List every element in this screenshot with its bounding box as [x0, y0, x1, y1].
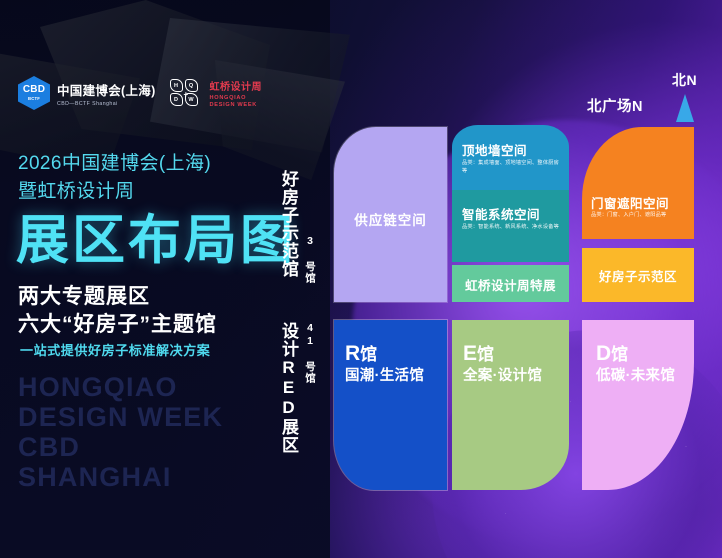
- map-hall-d-name: D馆: [596, 340, 628, 366]
- hq-plus-glyph: +: [184, 90, 189, 99]
- hq-petal-1: H: [170, 79, 183, 92]
- map-block-supply[interactable]: 供应链空间: [334, 127, 447, 302]
- hq-petal-3: D: [170, 93, 183, 106]
- north-arrow-icon: [676, 94, 694, 122]
- compass: 北N: [672, 70, 697, 122]
- headline-line-1: 2026中国建博会(上海): [18, 148, 211, 175]
- map-hall-e-letter: E: [463, 342, 477, 365]
- map-block-smart-title: 智能系统空间: [462, 204, 540, 223]
- map-hall-d-suffix: 馆: [611, 345, 628, 364]
- logo-cbd: CBD BCTF 中国建博会(上海) CBD—BCTF Shanghai: [18, 76, 156, 110]
- hongqiao-petals-icon: H Q D W +: [170, 78, 203, 108]
- map-block-supply-title: 供应链空间: [334, 209, 447, 229]
- map-hall-r-letter: R: [345, 342, 360, 365]
- watermark-line-3: CBD: [18, 432, 80, 463]
- compass-label: 北N: [672, 70, 697, 90]
- map-block-special-title: 虹桥设计周特展: [452, 275, 569, 294]
- zone-hall-no-design-red: 41 号馆: [303, 322, 318, 384]
- hongqiao-name-en-2: DESIGN WEEK: [210, 102, 263, 108]
- map-hall-d-subtitle: 低碳·未来馆: [596, 364, 675, 385]
- cbd-mark-secondary: BCTF: [28, 97, 40, 101]
- map-block-special[interactable]: 虹桥设计周特展: [452, 265, 569, 302]
- map-hall-r-name: R馆: [345, 340, 377, 366]
- zone-label-design-red: 设计RED展区: [276, 322, 301, 454]
- map-block-window-title: 门窗遮阳空间: [591, 193, 669, 212]
- map-hall-e-name: E馆: [463, 340, 494, 366]
- hongqiao-name-cn: 虹桥设计周: [210, 78, 263, 93]
- map-block-topwall-title: 顶地墙空间: [462, 140, 527, 159]
- subtitle-line-1: 两大专题展区: [18, 280, 150, 310]
- map-hall-e-suffix: 馆: [477, 345, 494, 364]
- watermark-line-2: DESIGN WEEK: [18, 402, 223, 433]
- hongqiao-name-en-1: HONGQIAO: [210, 95, 263, 101]
- map-hall-e[interactable]: E馆 全案·设计馆: [452, 320, 569, 490]
- cbd-name-en: CBD—BCTF Shanghai: [57, 101, 156, 107]
- map-hall-e-subtitle: 全案·设计馆: [463, 364, 542, 385]
- map-hall-r-subtitle: 国潮·生活馆: [345, 364, 424, 385]
- logo-hongqiao: H Q D W + 虹桥设计周 HONGQIAO DESIGN WEEK: [170, 78, 263, 109]
- poster-canvas: CBD BCTF 中国建博会(上海) CBD—BCTF Shanghai H Q…: [0, 0, 722, 558]
- map-block-window-desc: 品类：门窗、入户门、遮阳品等: [591, 212, 691, 220]
- zone-label-good-house: 好房子示范馆: [276, 170, 301, 278]
- cbd-mark-primary: CBD: [23, 85, 45, 95]
- map-block-topwall-desc: 品类：集成墙面、顶地墙空间、整体厨房等: [462, 159, 562, 175]
- watermark-line-1: HONGQIAO: [18, 372, 178, 403]
- page-title: 展区布局图: [16, 198, 296, 274]
- subtitle-line-2: 六大“好房子”主题馆: [18, 308, 217, 338]
- watermark-line-4: SHANGHAI: [18, 462, 172, 493]
- map-hall-d-letter: D: [596, 342, 611, 365]
- map-block-demo-title: 好房子示范区: [582, 266, 694, 285]
- map-block-demo[interactable]: 好房子示范区: [582, 248, 694, 302]
- logo-bar: CBD BCTF 中国建博会(上海) CBD—BCTF Shanghai H Q…: [18, 76, 262, 110]
- zone-hall-no-good-house: 3 号馆: [303, 235, 318, 284]
- plaza-label: 北广场N: [587, 95, 643, 116]
- map-hall-r-suffix: 馆: [360, 345, 377, 364]
- map-block-smart-desc: 品类：智能系统、新风系统、净水设备等: [462, 223, 562, 231]
- map-hall-r[interactable]: R馆 国潮·生活馆: [334, 320, 447, 490]
- map-block-topwall[interactable]: 顶地墙空间 品类：集成墙面、顶地墙空间、整体厨房等: [452, 125, 569, 190]
- map-block-smart[interactable]: 智能系统空间 品类：智能系统、新风系统、净水设备等: [452, 190, 569, 262]
- subtitle-line-3: 一站式提供好房子标准解决方案: [20, 340, 210, 359]
- cbd-hexagon-icon: CBD BCTF: [18, 76, 50, 110]
- cbd-name-cn: 中国建博会(上海): [57, 80, 156, 99]
